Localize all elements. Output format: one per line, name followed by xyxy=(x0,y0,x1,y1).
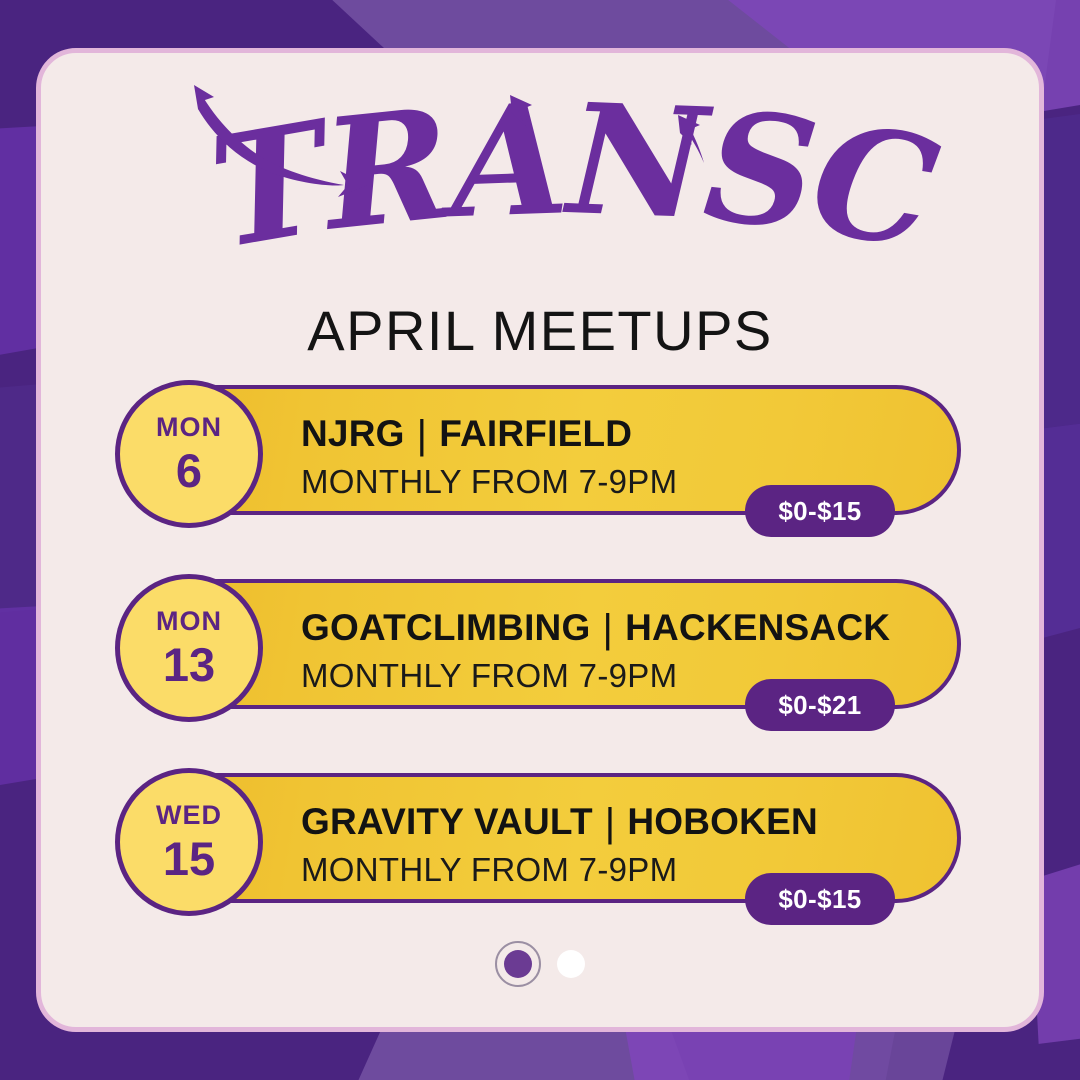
title-separator: | xyxy=(417,413,428,457)
page-subtitle: APRIL MEETUPS xyxy=(41,298,1039,363)
event-price: $0-$15 xyxy=(778,884,861,915)
main-card: TRANSCEND APRIL MEETUPS xyxy=(36,48,1044,1032)
event-city: FAIRFIELD xyxy=(439,414,632,455)
event-venue: GOATCLIMBING xyxy=(301,608,590,649)
carousel-pagination[interactable] xyxy=(41,941,1039,987)
pagination-dot-active[interactable] xyxy=(495,941,541,987)
event-day-of-week: WED xyxy=(156,802,222,829)
event-title: GOATCLIMBING | HACKENSACK xyxy=(301,605,837,649)
pagination-dot-inactive[interactable] xyxy=(557,950,585,978)
event-row[interactable]: GRAVITY VAULT | HOBOKEN MONTHLY FROM 7-9… xyxy=(119,773,961,915)
title-separator: | xyxy=(605,801,616,845)
events-list: NJRG | FAIRFIELD MONTHLY FROM 7-9PM MON … xyxy=(41,385,1039,915)
event-date-badge: MON 6 xyxy=(115,380,263,528)
event-day-of-week: MON xyxy=(156,608,222,635)
event-row[interactable]: GOATCLIMBING | HACKENSACK MONTHLY FROM 7… xyxy=(119,579,961,721)
event-title: NJRG | FAIRFIELD xyxy=(301,411,837,455)
event-row[interactable]: NJRG | FAIRFIELD MONTHLY FROM 7-9PM MON … xyxy=(119,385,961,527)
event-venue: GRAVITY VAULT xyxy=(301,802,593,843)
event-price-badge: $0-$15 xyxy=(745,485,895,537)
event-price: $0-$21 xyxy=(778,690,861,721)
event-day-number: 15 xyxy=(163,835,215,882)
event-price-badge: $0-$21 xyxy=(745,679,895,731)
brand-logo: TRANSCEND xyxy=(41,61,1039,301)
title-separator: | xyxy=(602,607,613,651)
pagination-dot-active-fill xyxy=(504,950,532,978)
event-text-block: GRAVITY VAULT | HOBOKEN MONTHLY FROM 7-9… xyxy=(301,799,837,889)
poster-root: TRANSCEND APRIL MEETUPS xyxy=(0,0,1080,1080)
event-price-badge: $0-$15 xyxy=(745,873,895,925)
event-price: $0-$15 xyxy=(778,496,861,527)
event-venue: NJRG xyxy=(301,414,405,455)
event-text-block: NJRG | FAIRFIELD MONTHLY FROM 7-9PM xyxy=(301,411,837,501)
event-city: HACKENSACK xyxy=(625,608,890,649)
event-date-badge: WED 15 xyxy=(115,768,263,916)
event-day-number: 13 xyxy=(163,641,215,688)
event-day-of-week: MON xyxy=(156,414,222,441)
event-text-block: GOATCLIMBING | HACKENSACK MONTHLY FROM 7… xyxy=(301,605,837,695)
event-title: GRAVITY VAULT | HOBOKEN xyxy=(301,799,837,843)
logo-text-glyphs: TRANSCEND xyxy=(108,48,949,284)
event-city: HOBOKEN xyxy=(627,802,818,843)
event-date-badge: MON 13 xyxy=(115,574,263,722)
event-day-number: 6 xyxy=(176,447,202,494)
